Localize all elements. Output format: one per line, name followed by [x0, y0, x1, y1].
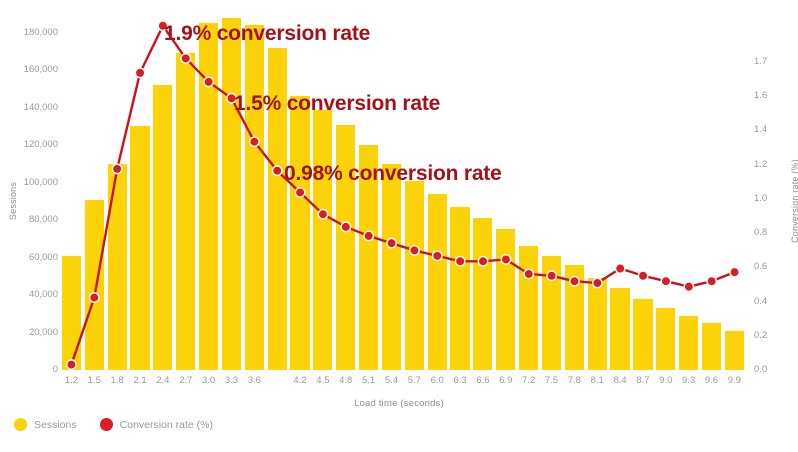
y-axis-left-tick-label: 20,000 — [29, 328, 58, 338]
x-axis-tick-label: 9.0 — [654, 372, 677, 390]
x-axis-tick-label: 2.1 — [129, 372, 152, 390]
legend-label: Sessions — [34, 419, 77, 431]
bar[interactable] — [382, 164, 401, 370]
bar-slot — [494, 14, 517, 370]
bar[interactable] — [542, 256, 561, 370]
y-axis-right-title: Conversion rate (%) — [790, 158, 798, 244]
bar-slot — [426, 14, 449, 370]
y-axis-right-tick-label: 1.0 — [754, 194, 767, 204]
bar-slot — [311, 14, 334, 370]
bar-slot — [151, 14, 174, 370]
bar[interactable] — [290, 96, 309, 370]
bar-slot — [540, 14, 563, 370]
y-axis-left-tick-label: 100,000 — [24, 178, 58, 188]
legend-swatch-circle-icon — [100, 418, 113, 431]
y-axis-right-tick-label: 1.2 — [754, 160, 767, 170]
legend-item[interactable]: Sessions — [14, 418, 77, 431]
bar-slot — [129, 14, 152, 370]
bar-slot — [266, 14, 289, 370]
bar-slot — [197, 14, 220, 370]
x-axis-tick-label: 6.3 — [449, 372, 472, 390]
x-axis-tick-label: 5.7 — [403, 372, 426, 390]
bar[interactable] — [108, 164, 127, 370]
x-axis-tick-label: 1.2 — [60, 372, 83, 390]
bar[interactable] — [702, 323, 721, 370]
bar-slot — [563, 14, 586, 370]
y-axis-right-tick-label: 0.8 — [754, 228, 767, 238]
y-axis-left-title: Sessions — [8, 166, 18, 236]
y-axis-right-tick-label: 1.7 — [754, 57, 767, 67]
y-axis-left-tick-label: 160,000 — [24, 65, 58, 75]
bar[interactable] — [245, 25, 264, 370]
x-axis-tick-label: 2.7 — [174, 372, 197, 390]
bar-slot — [174, 14, 197, 370]
y-axis-right-tick-label: 0.2 — [754, 331, 767, 341]
x-axis-tick-label: 9.9 — [723, 372, 746, 390]
bar[interactable] — [428, 194, 447, 370]
bar[interactable] — [679, 316, 698, 370]
bar[interactable] — [610, 288, 629, 370]
y-axis-left-tick-label: 0 — [53, 365, 58, 375]
bar-slot — [609, 14, 632, 370]
x-axis-tick-label: 6.9 — [494, 372, 517, 390]
bar[interactable] — [565, 265, 584, 370]
bar-slot — [723, 14, 746, 370]
annotation-conversion-mid: 1.5% conversion rate — [234, 92, 440, 116]
bar-slot — [654, 14, 677, 370]
bar[interactable] — [313, 110, 332, 370]
x-axis-tick-label: 4.2 — [289, 372, 312, 390]
x-axis-tick-label: 4.8 — [334, 372, 357, 390]
bar-slot — [471, 14, 494, 370]
bar[interactable] — [656, 308, 675, 370]
x-axis-tick-label: 8.7 — [631, 372, 654, 390]
x-axis-tick-label: 6.0 — [426, 372, 449, 390]
bar-slot — [380, 14, 403, 370]
y-axis-left-tick-label: 140,000 — [24, 103, 58, 113]
y-axis-left-tick-label: 80,000 — [29, 215, 58, 225]
bar[interactable] — [519, 246, 538, 370]
bar-slot — [700, 14, 723, 370]
x-axis-tick-label: 3.6 — [243, 372, 266, 390]
y-axis-left-tick-label: 40,000 — [29, 290, 58, 300]
bar[interactable] — [588, 278, 607, 370]
bar-slot — [586, 14, 609, 370]
x-axis-tick-label: 5.4 — [380, 372, 403, 390]
x-axis-tick-label: 8.4 — [609, 372, 632, 390]
bar-slot — [83, 14, 106, 370]
x-axis-tick-label: 4.5 — [311, 372, 334, 390]
x-axis-tick-label: 7.5 — [540, 372, 563, 390]
bar-series-sessions — [60, 14, 746, 370]
bar-slot — [403, 14, 426, 370]
legend-swatch-circle-icon — [14, 418, 27, 431]
x-axis-tick-label: 6.6 — [471, 372, 494, 390]
x-axis-tick-label: 7.8 — [563, 372, 586, 390]
bar[interactable] — [405, 181, 424, 370]
x-axis-tick-label: 9.6 — [700, 372, 723, 390]
chart-legend: SessionsConversion rate (%) — [14, 418, 227, 431]
legend-item[interactable]: Conversion rate (%) — [100, 418, 213, 431]
y-axis-right-tick-label: 0.0 — [754, 365, 767, 375]
bar-slot — [517, 14, 540, 370]
bar[interactable] — [85, 200, 104, 371]
x-axis-tick-label: 7.2 — [517, 372, 540, 390]
bar-slot — [220, 14, 243, 370]
y-axis-right-tick-label: 0.6 — [754, 262, 767, 272]
bar-slot — [449, 14, 472, 370]
bar[interactable] — [473, 218, 492, 370]
bar-slot — [106, 14, 129, 370]
y-axis-left-tick-label: 180,000 — [24, 28, 58, 38]
bar-slot — [357, 14, 380, 370]
legend-label: Conversion rate (%) — [120, 419, 213, 431]
x-axis-ticks: 1.21.51.82.12.42.73.03.33.64.24.54.85.15… — [60, 372, 746, 390]
bar-slot — [631, 14, 654, 370]
bar[interactable] — [130, 126, 149, 370]
x-axis-tick-label: 1.5 — [83, 372, 106, 390]
x-axis-title: Load time (seconds) — [0, 398, 798, 409]
bar-slot — [677, 14, 700, 370]
y-axis-left-tick-label: 60,000 — [29, 253, 58, 263]
y-axis-right-tick-label: 1.4 — [754, 125, 767, 135]
y-axis-right-tick-label: 1.6 — [754, 91, 767, 101]
bar-slot — [289, 14, 312, 370]
bar[interactable] — [725, 331, 744, 370]
bar[interactable] — [62, 256, 81, 370]
bar[interactable] — [199, 23, 218, 370]
x-axis-tick-label: 3.0 — [197, 372, 220, 390]
x-axis-tick-label: 5.1 — [357, 372, 380, 390]
y-axis-left-tick-label: 120,000 — [24, 140, 58, 150]
x-axis-tick-label: 9.3 — [677, 372, 700, 390]
bar[interactable] — [633, 299, 652, 370]
x-axis-tick-label — [266, 372, 289, 390]
x-axis-tick-label: 3.3 — [220, 372, 243, 390]
x-axis-tick-label: 8.1 — [586, 372, 609, 390]
bar-slot — [243, 14, 266, 370]
annotation-conversion-low: 0.98% conversion rate — [284, 162, 502, 186]
bar[interactable] — [176, 53, 195, 370]
bar[interactable] — [222, 18, 241, 370]
bar-slot — [60, 14, 83, 370]
x-axis-tick-label: 2.4 — [151, 372, 174, 390]
bar[interactable] — [153, 85, 172, 370]
bar-slot — [334, 14, 357, 370]
bar[interactable] — [450, 207, 469, 370]
plot-area: 1.2 : 0.03%1.5 : 0.4%1.8 : 1.11%2.1 : 1.… — [60, 14, 746, 370]
chart-container: Sessions Conversion rate (%) Load time (… — [0, 0, 798, 452]
annotation-conversion-peak: 1.9% conversion rate — [164, 22, 370, 46]
bar[interactable] — [496, 229, 515, 370]
x-axis-tick-label: 1.8 — [106, 372, 129, 390]
y-axis-right-tick-label: 0.4 — [754, 297, 767, 307]
